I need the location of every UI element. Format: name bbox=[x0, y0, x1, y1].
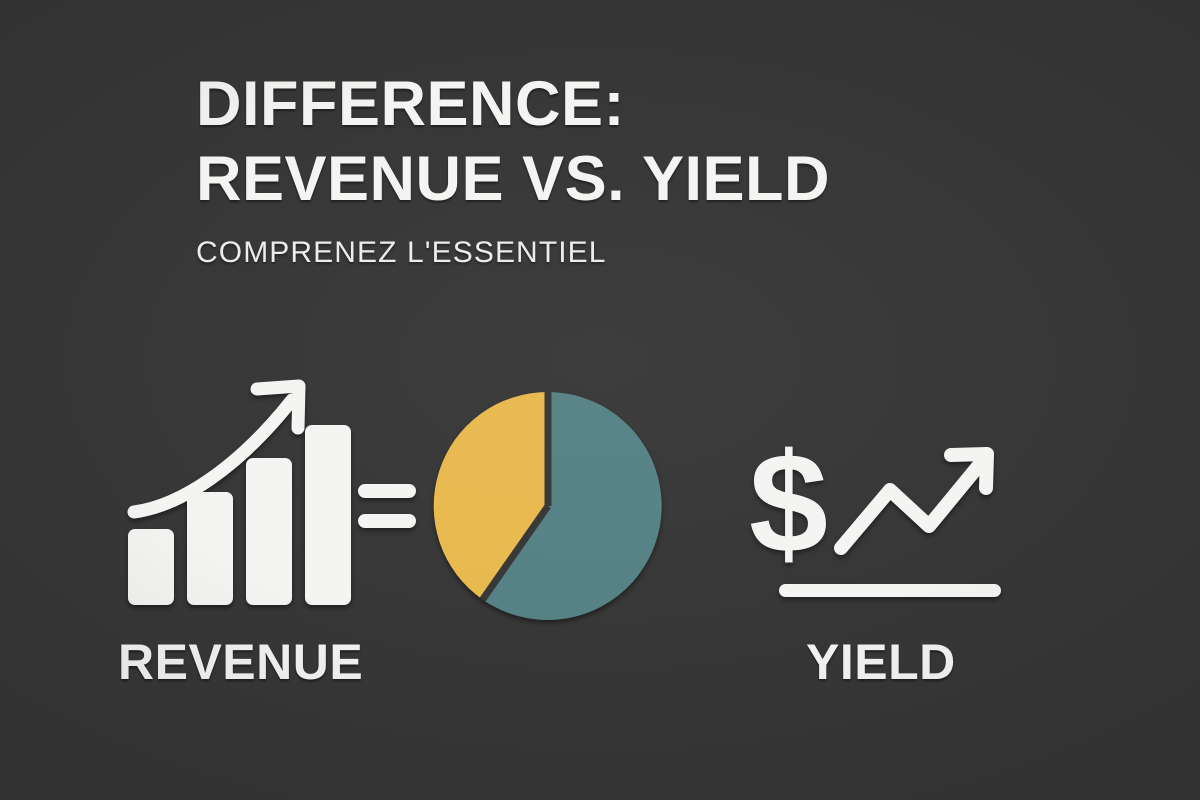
pie-chart-icon bbox=[432, 392, 664, 620]
trend-zigzag-line bbox=[841, 464, 980, 548]
caption-yield: YIELD bbox=[806, 633, 956, 691]
heading-block: DIFFERENCE: REVENUE VS. YIELD COMPRENEZ … bbox=[196, 74, 1096, 270]
equals-sign-icon bbox=[352, 476, 430, 536]
bar-4 bbox=[305, 425, 351, 605]
page-subtitle: COMPRENEZ L'ESSENTIEL bbox=[196, 236, 1096, 270]
bar-2 bbox=[187, 492, 233, 605]
bar-chart-growth-icon bbox=[118, 372, 348, 622]
dollar-trend-over-line-icon: $ bbox=[735, 420, 1025, 610]
page-title-line-1: DIFFERENCE: bbox=[196, 74, 1096, 136]
bar-3 bbox=[246, 458, 292, 605]
poster-canvas: DIFFERENCE: REVENUE VS. YIELD COMPRENEZ … bbox=[0, 0, 1200, 800]
bar-1 bbox=[128, 529, 174, 605]
yield-divider-rule bbox=[779, 584, 1001, 597]
equals-sign-glyph bbox=[352, 476, 430, 536]
pie-chart-graphic bbox=[432, 392, 664, 620]
revenue-icon-group bbox=[118, 372, 348, 622]
equals-bar-top bbox=[358, 484, 416, 498]
icon-row: $ bbox=[0, 372, 1200, 622]
page-title-line-2: REVENUE VS. YIELD bbox=[196, 149, 1096, 211]
equals-bar-bottom bbox=[358, 514, 416, 528]
caption-revenue: REVENUE bbox=[118, 633, 363, 691]
yield-icon-group: $ bbox=[735, 420, 1025, 610]
svg-text:$: $ bbox=[749, 424, 828, 583]
dollar-sign-icon: $ bbox=[749, 424, 828, 583]
